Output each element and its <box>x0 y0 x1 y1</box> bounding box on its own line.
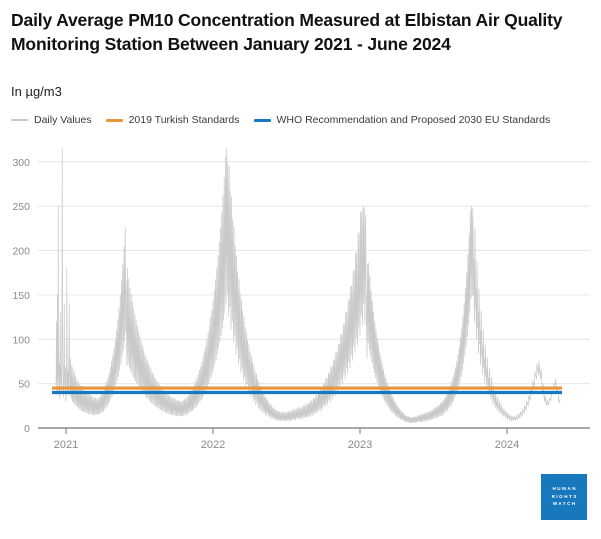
y-axis-tick-label: 250 <box>12 201 30 213</box>
legend-swatch-daily-values <box>11 119 28 122</box>
chart-subtitle: In µg/m3 <box>11 84 62 99</box>
x-axis-tick-label: 2022 <box>201 439 225 451</box>
y-axis-tick-label: 100 <box>12 334 30 346</box>
hrw-logo: HUMAN RIGHTS WATCH <box>541 474 587 520</box>
x-axis-tick-label: 2024 <box>495 439 519 451</box>
legend-item-daily-values[interactable]: Daily Values <box>11 115 92 126</box>
chart-card: Daily Average PM10 Concentration Measure… <box>0 0 601 539</box>
legend-swatch-who-standards <box>254 119 271 122</box>
x-axis-tick-label: 2021 <box>54 439 78 451</box>
y-axis-tick-label: 300 <box>12 157 30 169</box>
legend-item-turkish-standards[interactable]: 2019 Turkish Standards <box>106 115 240 126</box>
x-axis-tick-label: 2023 <box>348 439 372 451</box>
plot-area: 0501001502002503002021202220232024 <box>0 132 601 452</box>
y-axis-tick-label: 50 <box>18 379 30 391</box>
chart-svg: 0501001502002503002021202220232024 <box>0 132 601 452</box>
legend-swatch-turkish-standards <box>106 119 123 122</box>
hrw-logo-line-2: RIGHTS <box>550 495 578 500</box>
legend-item-who-standards[interactable]: WHO Recommendation and Proposed 2030 EU … <box>254 115 551 126</box>
y-axis-tick-label: 0 <box>24 423 30 435</box>
chart-legend: Daily Values 2019 Turkish Standards WHO … <box>11 112 591 128</box>
legend-label-daily-values: Daily Values <box>34 115 92 126</box>
y-axis-tick-label: 150 <box>12 290 30 302</box>
series-daily-values <box>56 148 560 422</box>
hrw-logo-line-3: WATCH <box>551 502 577 507</box>
legend-label-turkish-standards: 2019 Turkish Standards <box>129 115 240 126</box>
page-title: Daily Average PM10 Concentration Measure… <box>11 8 591 56</box>
hrw-logo-line-1: HUMAN <box>551 487 577 492</box>
y-axis-tick-label: 200 <box>12 246 30 258</box>
legend-label-who-standards: WHO Recommendation and Proposed 2030 EU … <box>277 115 551 126</box>
